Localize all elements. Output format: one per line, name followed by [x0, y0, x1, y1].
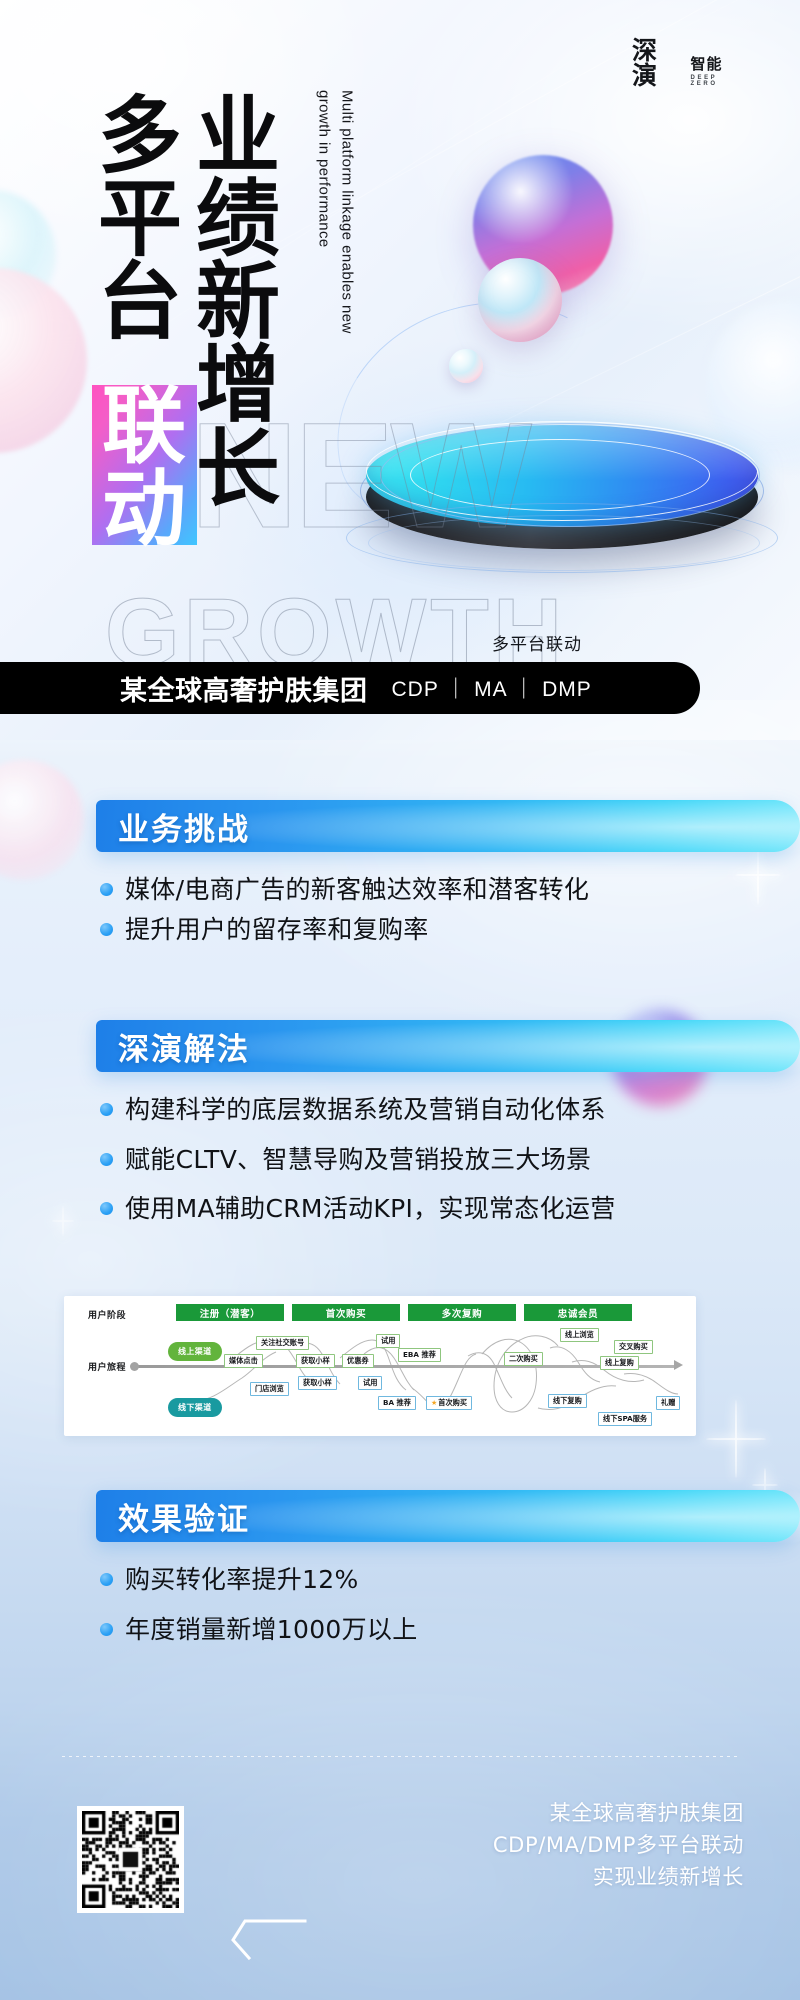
hero-char: 平	[98, 178, 182, 261]
hero-char-highlight: 联	[91, 385, 197, 468]
footer-line: 某全球高奢护肤集团	[493, 1798, 744, 1830]
diagram-journey-axis	[136, 1365, 676, 1368]
section-title: 深演解法	[118, 1024, 250, 1069]
section-solution: 深演解法 构建科学的底层数据系统及营销自动化体系 赋能CLTV、智慧导购及营销投…	[0, 1020, 800, 1241]
bullet-dot-icon	[100, 1573, 113, 1586]
section-bullet-list: 媒体/电商广告的新客触达效率和潜客转化 提升用户的留存率和复购率	[96, 872, 800, 947]
qr-code-image	[82, 1811, 179, 1908]
diagram-node: 关注社交账号	[256, 1336, 309, 1350]
footer-divider	[62, 1756, 738, 1757]
diagram-node-text: 首次购买	[438, 1398, 467, 1408]
list-item-text: 提升用户的留存率和复购率	[125, 912, 429, 948]
user-journey-diagram: 用户阶段 用户旅程 注册（潜客） 首次购买 多次复购 忠诚会员 线上渠道 线下渠…	[64, 1296, 696, 1436]
diagram-node-highlight: ★首次购买	[426, 1396, 472, 1410]
star-icon: ★	[431, 1399, 437, 1407]
diagram-node: 获取小样	[296, 1354, 335, 1368]
hero-column-left: 多 平 台	[98, 95, 182, 344]
diagram-node: 试用	[376, 1334, 400, 1348]
diagram-node: 获取小样	[298, 1376, 337, 1390]
diagram-node: 门店浏览	[250, 1382, 289, 1396]
section-header-badge: 业务挑战	[96, 800, 800, 852]
hero-typography: NEW GROWTH 业 绩 新 增 长 多 平 台 联 动 Multi pla…	[0, 0, 800, 740]
footer-line: 实现业绩新增长	[493, 1862, 744, 1894]
list-item: 赋能CLTV、智慧导购及营销投放三大场景	[100, 1142, 800, 1178]
section-bullet-list: 购买转化率提升12% 年度销量新增1000万以上	[96, 1562, 800, 1647]
hero-subhead: 多平台联动	[492, 630, 582, 655]
diagram-node: 媒体点击	[224, 1354, 263, 1368]
corner-arrow-icon	[225, 1918, 307, 1960]
list-item: 提升用户的留存率和复购率	[100, 912, 800, 948]
section-header-badge: 效果验证	[96, 1490, 800, 1542]
diagram-node: EBA 推荐	[398, 1348, 441, 1362]
qr-canvas	[82, 1811, 179, 1908]
diagram-node: BA 推荐	[378, 1396, 416, 1410]
list-item-text: 构建科学的底层数据系统及营销自动化体系	[125, 1092, 606, 1128]
hero-char: 新	[196, 261, 280, 344]
diagram-node: 礼赠	[656, 1396, 680, 1410]
bullet-dot-icon	[100, 883, 113, 896]
hero-column-right: 业 绩 新 增 长	[196, 95, 280, 511]
diagram-node: 交叉购买	[614, 1340, 653, 1354]
list-item-text: 年度销量新增1000万以上	[125, 1612, 418, 1648]
diagram-axis-arrow-icon	[674, 1360, 683, 1370]
client-banner: 某全球高奢护肤集团 CDP ｜ MA ｜ DMP	[0, 662, 700, 714]
diagram-node: 线上浏览	[560, 1328, 599, 1342]
list-item: 媒体/电商广告的新客触达效率和潜客转化	[100, 872, 800, 908]
qr-code[interactable]	[77, 1806, 184, 1913]
hero-char: 增	[196, 344, 280, 427]
diagram-pill-online: 线上渠道	[168, 1342, 222, 1361]
section-title: 效果验证	[118, 1494, 250, 1539]
diagram-node: 试用	[358, 1376, 382, 1390]
diagram-node: 优惠券	[342, 1354, 374, 1368]
list-item: 年度销量新增1000万以上	[100, 1612, 800, 1648]
bullet-dot-icon	[100, 1153, 113, 1166]
diagram-node: 线下SPA服务	[598, 1412, 652, 1426]
bullet-dot-icon	[100, 1202, 113, 1215]
bullet-dot-icon	[100, 1103, 113, 1116]
list-item-text: 使用MA辅助CRM活动KPI，实现常态化运营	[125, 1191, 616, 1227]
hero-char: 多	[98, 95, 182, 178]
hero-char: 业	[196, 95, 280, 178]
list-item: 购买转化率提升12%	[100, 1562, 800, 1598]
bullet-dot-icon	[100, 1623, 113, 1636]
product-tags: CDP ｜ MA ｜ DMP	[392, 673, 592, 703]
section-header-badge: 深演解法	[96, 1020, 800, 1072]
footer-line: CDP/MA/DMP多平台联动	[493, 1830, 744, 1862]
hero-char: 台	[98, 261, 182, 344]
section-bullet-list: 构建科学的底层数据系统及营销自动化体系 赋能CLTV、智慧导购及营销投放三大场景…	[96, 1092, 800, 1227]
diagram-pill-offline: 线下渠道	[168, 1398, 222, 1417]
hero-english-tagline: Multi platform linkage enables new growt…	[312, 90, 359, 340]
diagram-axis-start-dot	[130, 1362, 139, 1371]
client-name: 某全球高奢护肤集团	[120, 669, 368, 708]
list-item: 使用MA辅助CRM活动KPI，实现常态化运营	[100, 1191, 800, 1227]
footer-text-block: 某全球高奢护肤集团 CDP/MA/DMP多平台联动 实现业绩新增长	[493, 1798, 744, 1894]
hero-char-highlight: 动	[91, 468, 197, 551]
diagram-node: 线上复购	[600, 1356, 639, 1370]
hero-highlight-block: 联 动	[92, 385, 197, 545]
list-item-text: 购买转化率提升12%	[125, 1562, 359, 1598]
section-business-challenge: 业务挑战 媒体/电商广告的新客触达效率和潜客转化 提升用户的留存率和复购率	[0, 800, 800, 951]
list-item-text: 赋能CLTV、智慧导购及营销投放三大场景	[125, 1142, 591, 1178]
bullet-dot-icon	[100, 923, 113, 936]
hero-char: 绩	[196, 178, 280, 261]
list-item: 构建科学的底层数据系统及营销自动化体系	[100, 1092, 800, 1128]
list-item-text: 媒体/电商广告的新客触达效率和潜客转化	[125, 872, 589, 908]
poster-root: 深演 智能 DEEP ZERO NEW GROWTH 业 绩 新 增 长 多 平…	[0, 0, 800, 2000]
sparkle-icon	[706, 1400, 766, 1478]
diagram-node: 二次购买	[504, 1352, 543, 1366]
section-title: 业务挑战	[118, 804, 250, 849]
diagram-node: 线下复购	[548, 1394, 587, 1408]
hero-char: 长	[196, 428, 280, 511]
section-results: 效果验证 购买转化率提升12% 年度销量新增1000万以上	[0, 1490, 800, 1661]
